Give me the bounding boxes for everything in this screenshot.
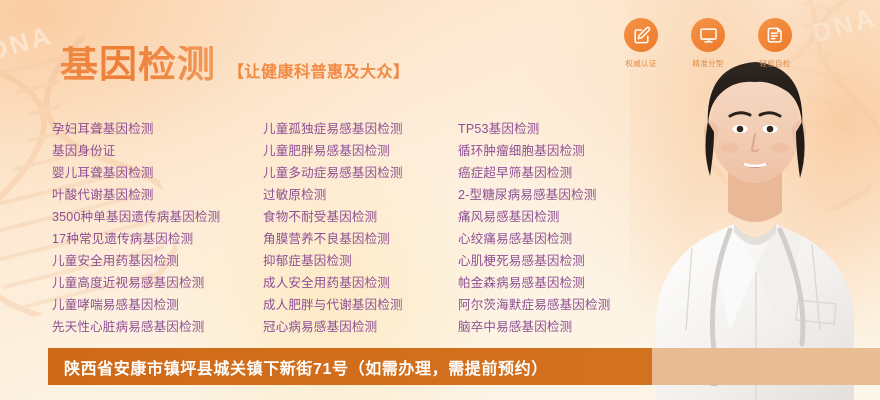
list-item[interactable]: 孕妇耳聋基因检测 — [52, 118, 263, 140]
list-item[interactable]: 冠心病易感基因检测 — [263, 316, 458, 338]
feature-authority-certification[interactable]: 权威认证 — [618, 18, 664, 69]
certificate-pen-icon — [624, 18, 658, 52]
list-item[interactable]: 抑郁症基因检测 — [263, 250, 458, 272]
list-item[interactable]: 儿童安全用药基因检测 — [52, 250, 263, 272]
list-item[interactable]: 循环肿瘤细胞基因检测 — [458, 140, 652, 162]
watermark-text-left: DNA — [0, 20, 56, 68]
list-item[interactable]: 心肌梗死易感基因检测 — [458, 250, 652, 272]
list-item[interactable]: 痛风易感基因检测 — [458, 206, 652, 228]
list-item[interactable]: 儿童肥胖易感基因检测 — [263, 140, 458, 162]
test-list: 孕妇耳聋基因检测 基因身份证 婴儿耳聋基因检测 叶酸代谢基因检测 3500种单基… — [52, 118, 652, 338]
list-item[interactable]: 成人肥胖与代谢基因检测 — [263, 294, 458, 316]
promo-poster: DNA DNA — [0, 0, 880, 400]
list-item[interactable]: 先天性心脏病易感基因检测 — [52, 316, 263, 338]
page-title: 基因检测 — [60, 46, 216, 84]
list-item[interactable]: 2-型糖尿病易感基因检测 — [458, 184, 652, 206]
list-item[interactable]: 阿尔茨海默症易感基因检测 — [458, 294, 652, 316]
list-item[interactable]: 癌症超早筛基因检测 — [458, 162, 652, 184]
address-banner: 陕西省安康市镇坪县城关镇下新街71号（如需办理，需提前预约） — [48, 348, 880, 385]
list-item[interactable]: 叶酸代谢基因检测 — [52, 184, 263, 206]
test-list-column-3: TP53基因检测 循环肿瘤细胞基因检测 癌症超早筛基因检测 2-型糖尿病易感基因… — [458, 118, 652, 338]
list-item[interactable]: TP53基因检测 — [458, 118, 652, 140]
list-item[interactable]: 3500种单基因遗传病基因检测 — [52, 206, 263, 228]
list-item[interactable]: 角膜营养不良基因检测 — [263, 228, 458, 250]
feature-label: 轻松自检 — [752, 58, 798, 69]
list-item[interactable]: 过敏原检测 — [263, 184, 458, 206]
feature-precise-typing[interactable]: 精准分型 — [685, 18, 731, 69]
list-item[interactable]: 儿童高度近视易感基因检测 — [52, 272, 263, 294]
feature-label: 权威认证 — [618, 58, 664, 69]
list-item[interactable]: 食物不耐受基因检测 — [263, 206, 458, 228]
list-item[interactable]: 基因身份证 — [52, 140, 263, 162]
monitor-icon — [691, 18, 725, 52]
report-document-icon — [758, 18, 792, 52]
title-block: 基因检测 【让健康科普惠及大众】 — [60, 46, 410, 84]
list-item[interactable]: 婴儿耳聋基因检测 — [52, 162, 263, 184]
list-item[interactable]: 成人安全用药基因检测 — [263, 272, 458, 294]
list-item[interactable]: 心绞痛易感基因检测 — [458, 228, 652, 250]
list-item[interactable]: 儿童孤独症易感基因检测 — [263, 118, 458, 140]
feature-badges: 权威认证 精准分型 轻松自检 — [618, 18, 798, 69]
list-item[interactable]: 儿童多动症易感基因检测 — [263, 162, 458, 184]
list-item[interactable]: 脑卒中易感基因检测 — [458, 316, 652, 338]
list-item[interactable]: 儿童哮喘易感基因检测 — [52, 294, 263, 316]
feature-easy-self-check[interactable]: 轻松自检 — [752, 18, 798, 69]
feature-label: 精准分型 — [685, 58, 731, 69]
page-subtitle: 【让健康科普惠及大众】 — [228, 58, 410, 82]
address-text: 陕西省安康市镇坪县城关镇下新街71号（如需办理，需提前预约） — [64, 355, 548, 379]
list-item[interactable]: 17种常见遗传病基因检测 — [52, 228, 263, 250]
list-item[interactable]: 帕金森病易感基因检测 — [458, 272, 652, 294]
test-list-column-2: 儿童孤独症易感基因检测 儿童肥胖易感基因检测 儿童多动症易感基因检测 过敏原检测… — [263, 118, 458, 338]
test-list-column-1: 孕妇耳聋基因检测 基因身份证 婴儿耳聋基因检测 叶酸代谢基因检测 3500种单基… — [52, 118, 263, 338]
